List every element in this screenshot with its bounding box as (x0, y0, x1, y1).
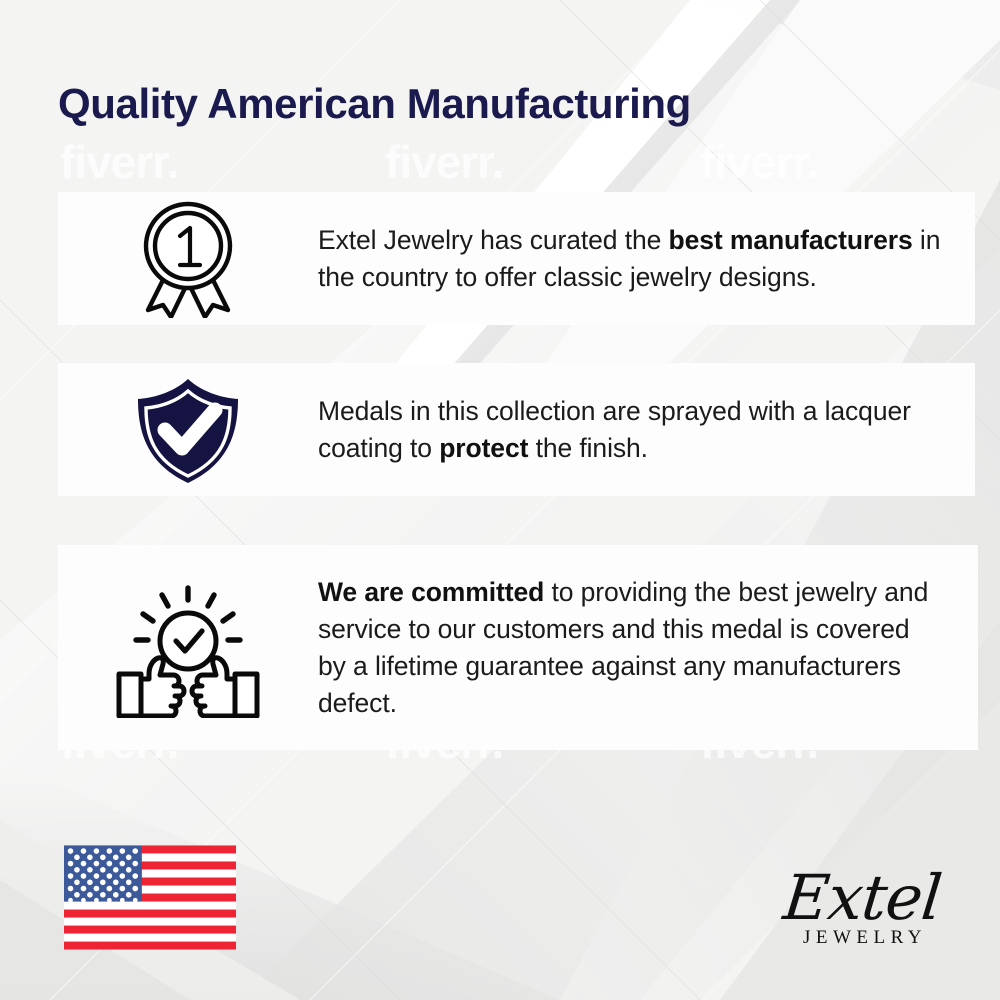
award-ribbon-icon (58, 200, 318, 318)
feature-card-commitment: We are committed to providing the best j… (58, 545, 978, 750)
feature-card-text: We are committed to providing the best j… (318, 574, 978, 722)
text-segment-bold: We are committed (318, 577, 544, 607)
usa-flag (64, 845, 236, 950)
feature-card-text: Medals in this collection are sprayed wi… (318, 393, 975, 467)
page-title: Quality American Manufacturing (58, 80, 691, 128)
text-segment-bold: protect (439, 433, 528, 463)
feature-card-manufacturers: Extel Jewelry has curated the best manuf… (58, 192, 975, 325)
feature-card-protection: Medals in this collection are sprayed wi… (58, 363, 975, 496)
logo-script-text: Extel (781, 867, 944, 929)
feature-card-text: Extel Jewelry has curated the best manuf… (318, 222, 975, 296)
text-segment: Extel Jewelry has curated the (318, 225, 669, 255)
shield-check-icon (58, 372, 318, 488)
text-segment-bold: best manufacturers (669, 225, 913, 255)
extel-jewelry-logo: Extel JEWELRY (770, 855, 955, 960)
text-segment: the finish. (528, 433, 648, 463)
thumbs-up-check-icon (58, 578, 318, 718)
